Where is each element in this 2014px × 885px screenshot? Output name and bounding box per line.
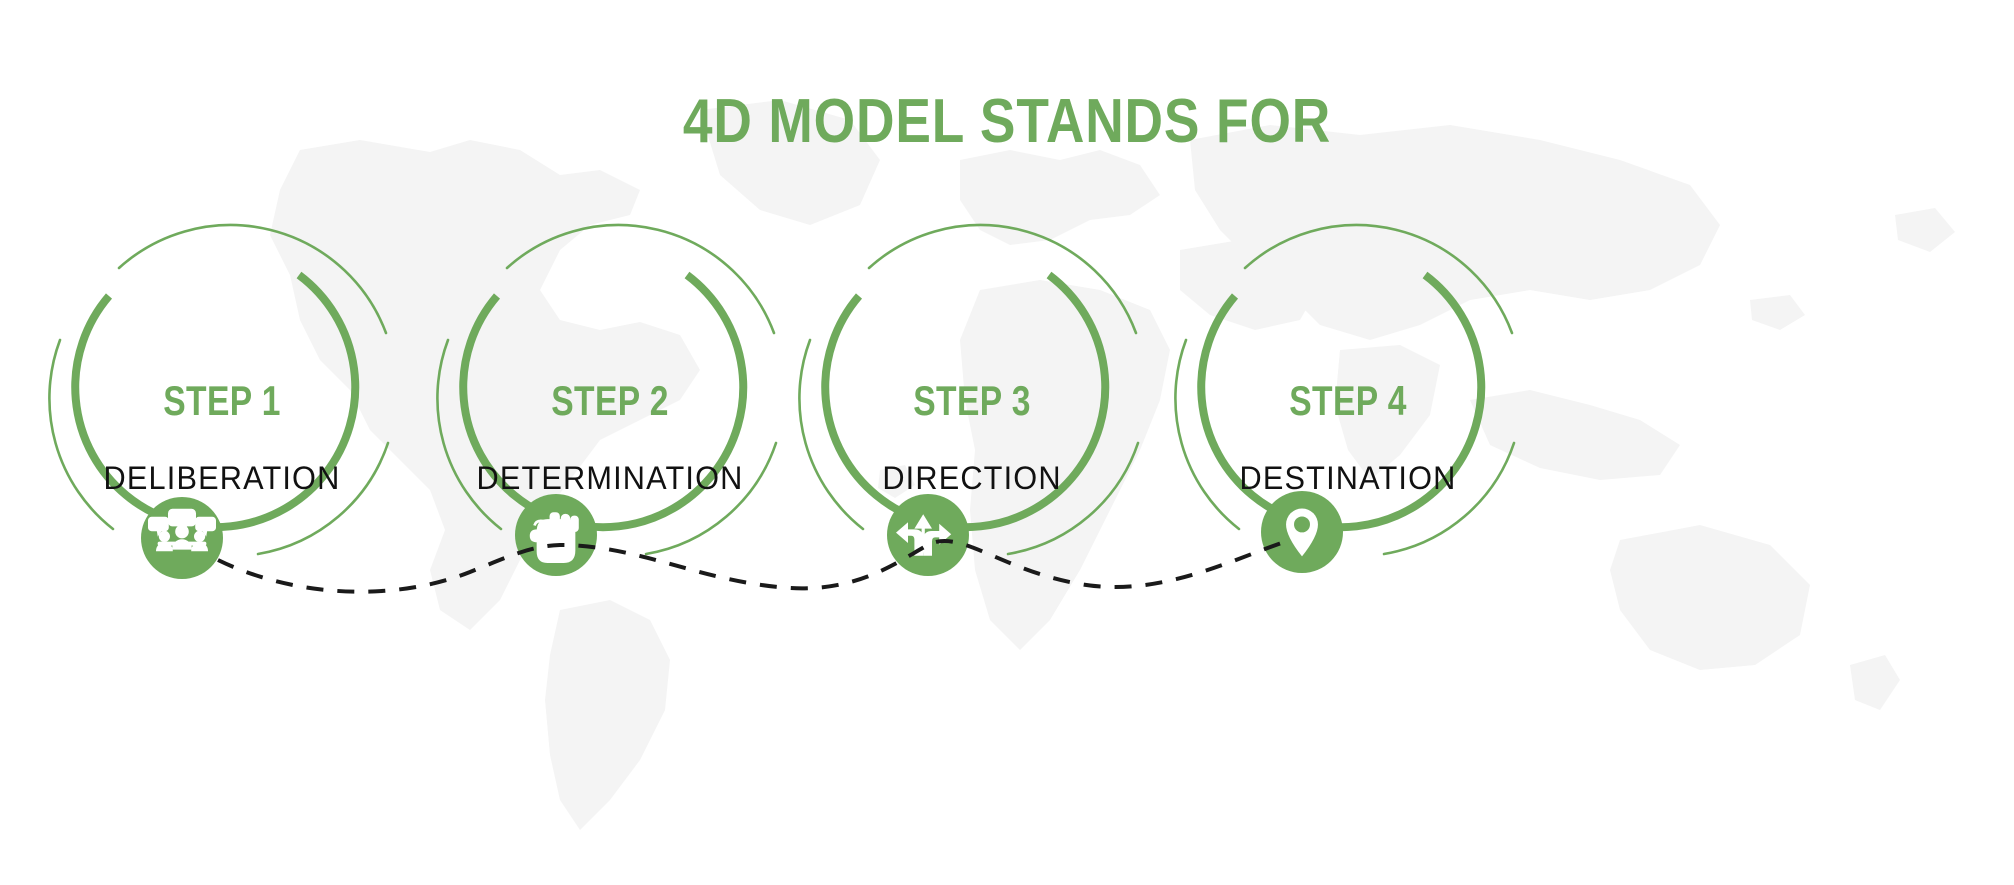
- step-label-1: DELIBERATION: [49, 462, 395, 494]
- step-text-3: STEP 3 DIRECTION: [792, 380, 1152, 494]
- step-label-4: DESTINATION: [1175, 462, 1521, 494]
- step-number-3: STEP 3: [828, 380, 1116, 422]
- page-title: 4D MODEL STANDS FOR: [141, 86, 1873, 157]
- step-label-3: DIRECTION: [799, 462, 1145, 494]
- step-number-4: STEP 4: [1204, 380, 1492, 422]
- step-text-2: STEP 2 DETERMINATION: [430, 380, 790, 494]
- step-label-2: DETERMINATION: [437, 462, 783, 494]
- step-number-2: STEP 2: [466, 380, 754, 422]
- step-number-1: STEP 1: [78, 380, 366, 422]
- step-text-1: STEP 1 DELIBERATION: [42, 380, 402, 494]
- step-text-4: STEP 4 DESTINATION: [1168, 380, 1528, 494]
- infographic-canvas: 4D MODEL STANDS FOR STEP 1 DELIBERATION …: [0, 0, 2014, 885]
